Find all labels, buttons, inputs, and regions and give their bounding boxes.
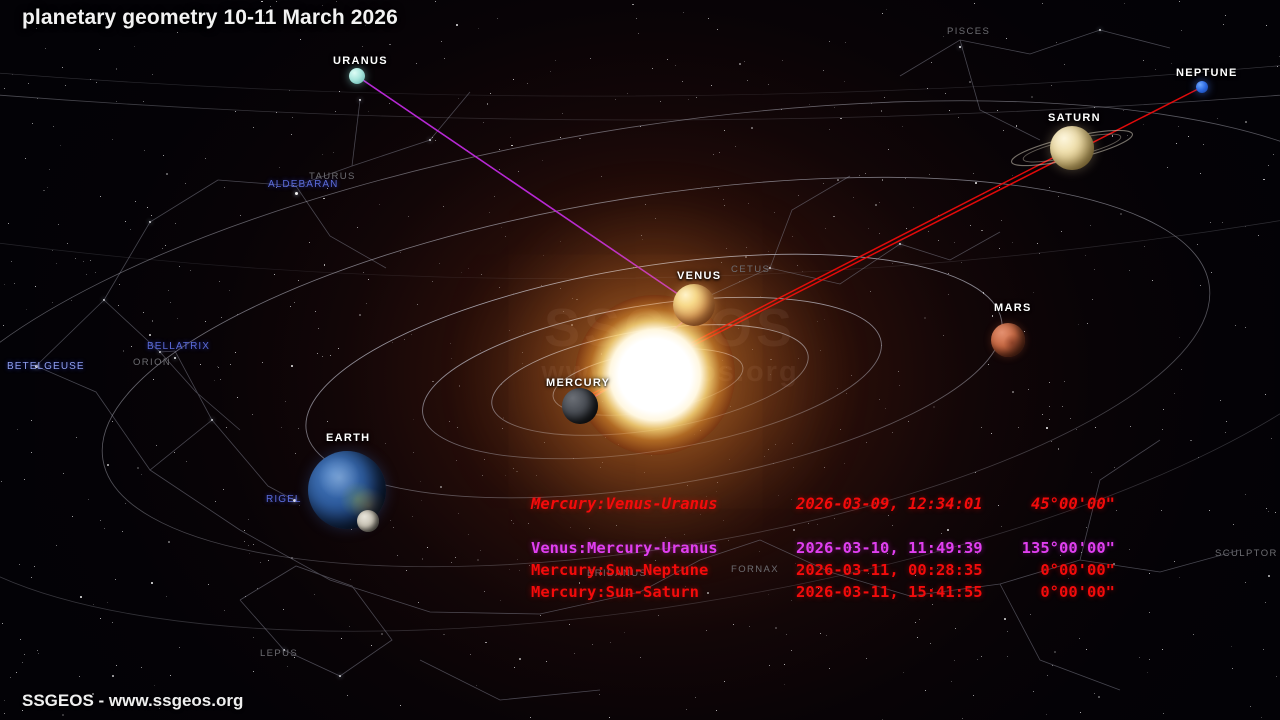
- alignment-datetime: 2026-03-11, 00:28:35: [796, 561, 995, 579]
- alignment-name: Mercury:Venus-Uranus: [531, 495, 796, 513]
- alignment-angle: 0°00'00": [995, 561, 1115, 579]
- alignment-datetime: 2026-03-10, 11:49:39: [796, 539, 995, 557]
- mars[interactable]: [991, 323, 1025, 357]
- neptune[interactable]: [1196, 81, 1208, 93]
- moon[interactable]: [357, 510, 379, 532]
- alignment-event-row[interactable]: Mercury:Sun-Neptune2026-03-11, 00:28:350…: [531, 561, 1115, 583]
- alignment-event-row[interactable]: Mercury:Venus-Uranus2026-03-09, 12:34:01…: [531, 495, 1115, 517]
- alignment-name: Mercury:Sun-Saturn: [531, 583, 796, 601]
- venus[interactable]: [673, 284, 715, 326]
- alignment-angle: 45°00'00": [995, 495, 1115, 513]
- alignment-datetime: 2026-03-09, 12:34:01: [796, 495, 995, 513]
- alignment-angle: 135°00'00": [995, 539, 1115, 557]
- alignment-events-list: Mercury:Venus-Uranus2026-03-09, 12:34:01…: [531, 495, 1115, 605]
- row-spacer: [531, 517, 1115, 539]
- footer-credit: SSGEOS - www.ssgeos.org: [22, 691, 243, 711]
- mercury[interactable]: [562, 388, 598, 424]
- saturn[interactable]: [1050, 126, 1094, 170]
- planetary-geometry-view: SSGEOS www.ssgeos.org: [0, 0, 1280, 720]
- alignment-event-row[interactable]: Venus:Mercury-Uranus2026-03-10, 11:49:39…: [531, 539, 1115, 561]
- alignment-name: Mercury:Sun-Neptune: [531, 561, 796, 579]
- uranus[interactable]: [349, 68, 365, 84]
- alignment-event-row[interactable]: Mercury:Sun-Saturn2026-03-11, 15:41:550°…: [531, 583, 1115, 605]
- alignment-angle: 0°00'00": [995, 583, 1115, 601]
- page-title: planetary geometry 10-11 March 2026: [22, 6, 398, 30]
- alignment-name: Venus:Mercury-Uranus: [531, 539, 796, 557]
- sun[interactable]: [575, 295, 735, 455]
- alignment-datetime: 2026-03-11, 15:41:55: [796, 583, 995, 601]
